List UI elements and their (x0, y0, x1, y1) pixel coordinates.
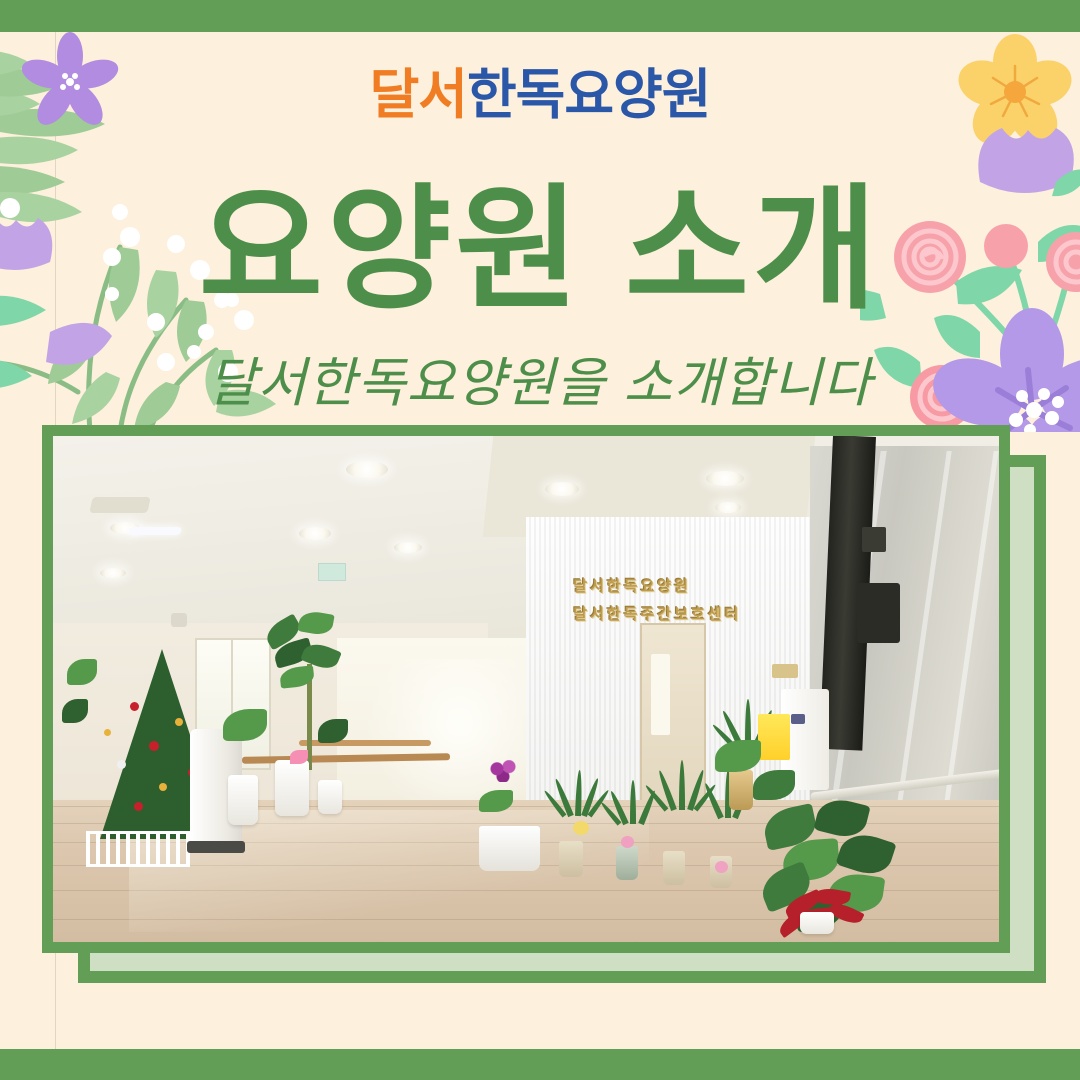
ceiling-light-2 (545, 482, 579, 496)
planter-2 (228, 775, 258, 825)
air-purifier-base (187, 841, 245, 854)
dispenser-panel (791, 714, 805, 724)
planter-3 (318, 780, 342, 814)
trophy-shelf (772, 664, 798, 678)
brand-logo-blue: 한독요양원 (467, 65, 710, 125)
wall-sign-line-1: 달서한독요양원 (573, 573, 741, 602)
mount-bracket (862, 527, 887, 552)
wall-signage: 달서한독요양원 달서한독주간보호센터 (573, 573, 741, 630)
ceiling-vent (89, 497, 150, 513)
wall-speaker (171, 613, 187, 627)
spiky-plant-3 (658, 760, 704, 810)
palm-planter (275, 760, 309, 816)
ceiling-light-4 (299, 527, 331, 540)
small-flower-2 (621, 836, 634, 848)
page-title: 요양원 소개 (0, 182, 1080, 317)
pink-ribbon-bow (290, 750, 308, 764)
header-block: 달서한독요양원 요양원 소개 달서한독요양원을 소개합니다 (0, 32, 1080, 425)
poinsettia-planter (800, 912, 834, 934)
spiky-plant-3-vase (663, 851, 685, 885)
orchid-planter (479, 826, 540, 872)
orchid-blooms (488, 760, 518, 782)
facility-photo: 달서한독요양원 달서한독주간보호센터 (53, 436, 999, 942)
mounted-device (857, 583, 900, 644)
poster-canvas: 달서한독요양원 요양원 소개 달서한독요양원을 소개합니다 달서한독요양원 달서… (0, 0, 1080, 1080)
small-flower-1 (573, 821, 589, 835)
spiky-plant-1-vase (559, 841, 583, 877)
bottom-green-band (0, 1049, 1080, 1080)
brand-logo: 달서한독요양원 (0, 68, 1080, 122)
gold-urn (729, 770, 753, 810)
ceiling-light-7 (100, 568, 126, 578)
palm-plant (261, 618, 356, 770)
exit-sign (318, 563, 346, 581)
wall-poster (758, 714, 790, 760)
spiky-plant-1 (554, 770, 600, 816)
spiky-plant-2-vase (616, 846, 638, 880)
brand-logo-orange: 달서 (370, 65, 467, 125)
door-vision-panel (651, 654, 670, 735)
tree-picket-fence (86, 831, 190, 867)
ceiling-light-8 (715, 502, 741, 513)
ceiling-light-6 (394, 542, 422, 553)
top-green-band (0, 0, 1080, 32)
page-subtitle: 달서한독요양원을 소개합니다 (0, 352, 1080, 416)
fluorescent-strip (128, 527, 182, 535)
facility-photo-frame: 달서한독요양원 달서한독주간보호센터 (42, 425, 1010, 953)
